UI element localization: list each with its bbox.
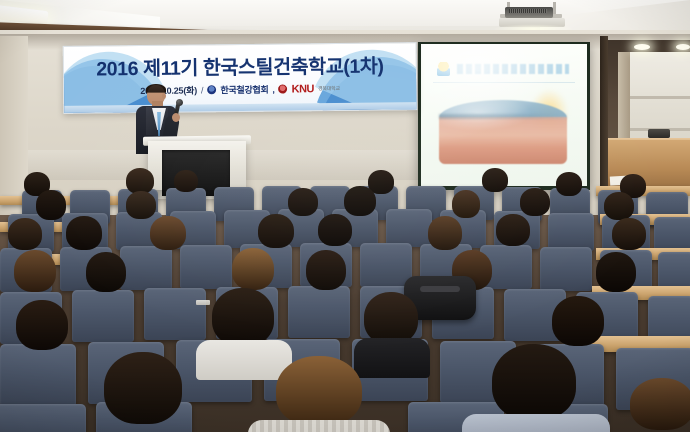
booth-light-left: [634, 44, 650, 50]
audience-member: [482, 168, 508, 192]
seat: [144, 288, 206, 340]
audience-member: [8, 218, 42, 250]
audience-member-foreground: [276, 356, 362, 432]
seat: [180, 245, 232, 289]
booth-equipment: [648, 129, 670, 138]
audience-member: [428, 216, 462, 250]
audience-member: [86, 252, 126, 292]
audience-member: [364, 292, 418, 344]
banner-separator: /: [201, 85, 204, 95]
speaker-ear: [162, 93, 166, 99]
audience-member: [496, 214, 530, 246]
banner-organizer-primary: 한국철강협회: [220, 83, 268, 97]
seat: [72, 290, 134, 342]
audience-member: [552, 296, 604, 346]
audience-member: [318, 214, 352, 246]
projector-vent: [509, 9, 547, 13]
booth-wall-seam-upper: [628, 96, 690, 99]
audience-member: [604, 192, 634, 220]
audience-member: [288, 188, 318, 216]
banner-organizer-comma: ,: [272, 84, 274, 94]
audience-member: [452, 190, 480, 218]
backpack-strap: [420, 286, 460, 292]
lecture-hall-photo: 2016 제11기 한국스틸건축학교(1차) 2016.10.25(화) / 한…: [0, 0, 690, 432]
steel-association-emblem-icon: [207, 85, 216, 94]
audience-member: [232, 248, 274, 290]
seat: [386, 209, 432, 247]
projection-screen: [421, 44, 587, 186]
audience-member-foreground: [104, 352, 182, 432]
seat: [0, 344, 76, 406]
seat: [120, 246, 172, 290]
audience-member: [66, 216, 102, 250]
seat: [0, 404, 86, 432]
seat: [548, 213, 594, 251]
event-banner: 2016 제11기 한국스틸건축학교(1차) 2016.10.25(화) / 한…: [63, 42, 418, 114]
audience-member: [126, 191, 156, 219]
seat: [540, 247, 592, 291]
seat: [288, 286, 350, 338]
audience-member: [14, 250, 56, 292]
seat-number-tag: [196, 300, 210, 305]
slide-projector-hotspot: [425, 44, 555, 124]
audience-member: [212, 288, 274, 346]
booth-light-right: [676, 44, 690, 50]
banner-title: 2016 제11기 한국스틸건축학교(1차): [64, 49, 416, 82]
booth-edge-shadow: [600, 36, 608, 196]
speaker-hand: [172, 113, 180, 122]
seat: [360, 243, 412, 287]
audience-member: [150, 216, 186, 250]
microphone-head: [176, 99, 183, 106]
banner-knu-subtext: 경북대학교: [318, 85, 340, 92]
audience-member-foreground: [492, 344, 576, 432]
audience-member: [556, 172, 582, 196]
audience-member: [344, 186, 376, 216]
audience-member: [36, 190, 66, 220]
audience-member: [16, 300, 68, 350]
audience-member: [612, 218, 646, 250]
audience-member: [520, 188, 550, 216]
audience-member: [258, 214, 294, 248]
audience-member: [596, 252, 636, 292]
audience-member-foreground: [630, 378, 690, 432]
audience-member: [306, 250, 346, 290]
audience-member: [174, 170, 198, 192]
banner-knu-mark: KNU: [292, 83, 314, 95]
knu-emblem-icon: [279, 85, 288, 94]
